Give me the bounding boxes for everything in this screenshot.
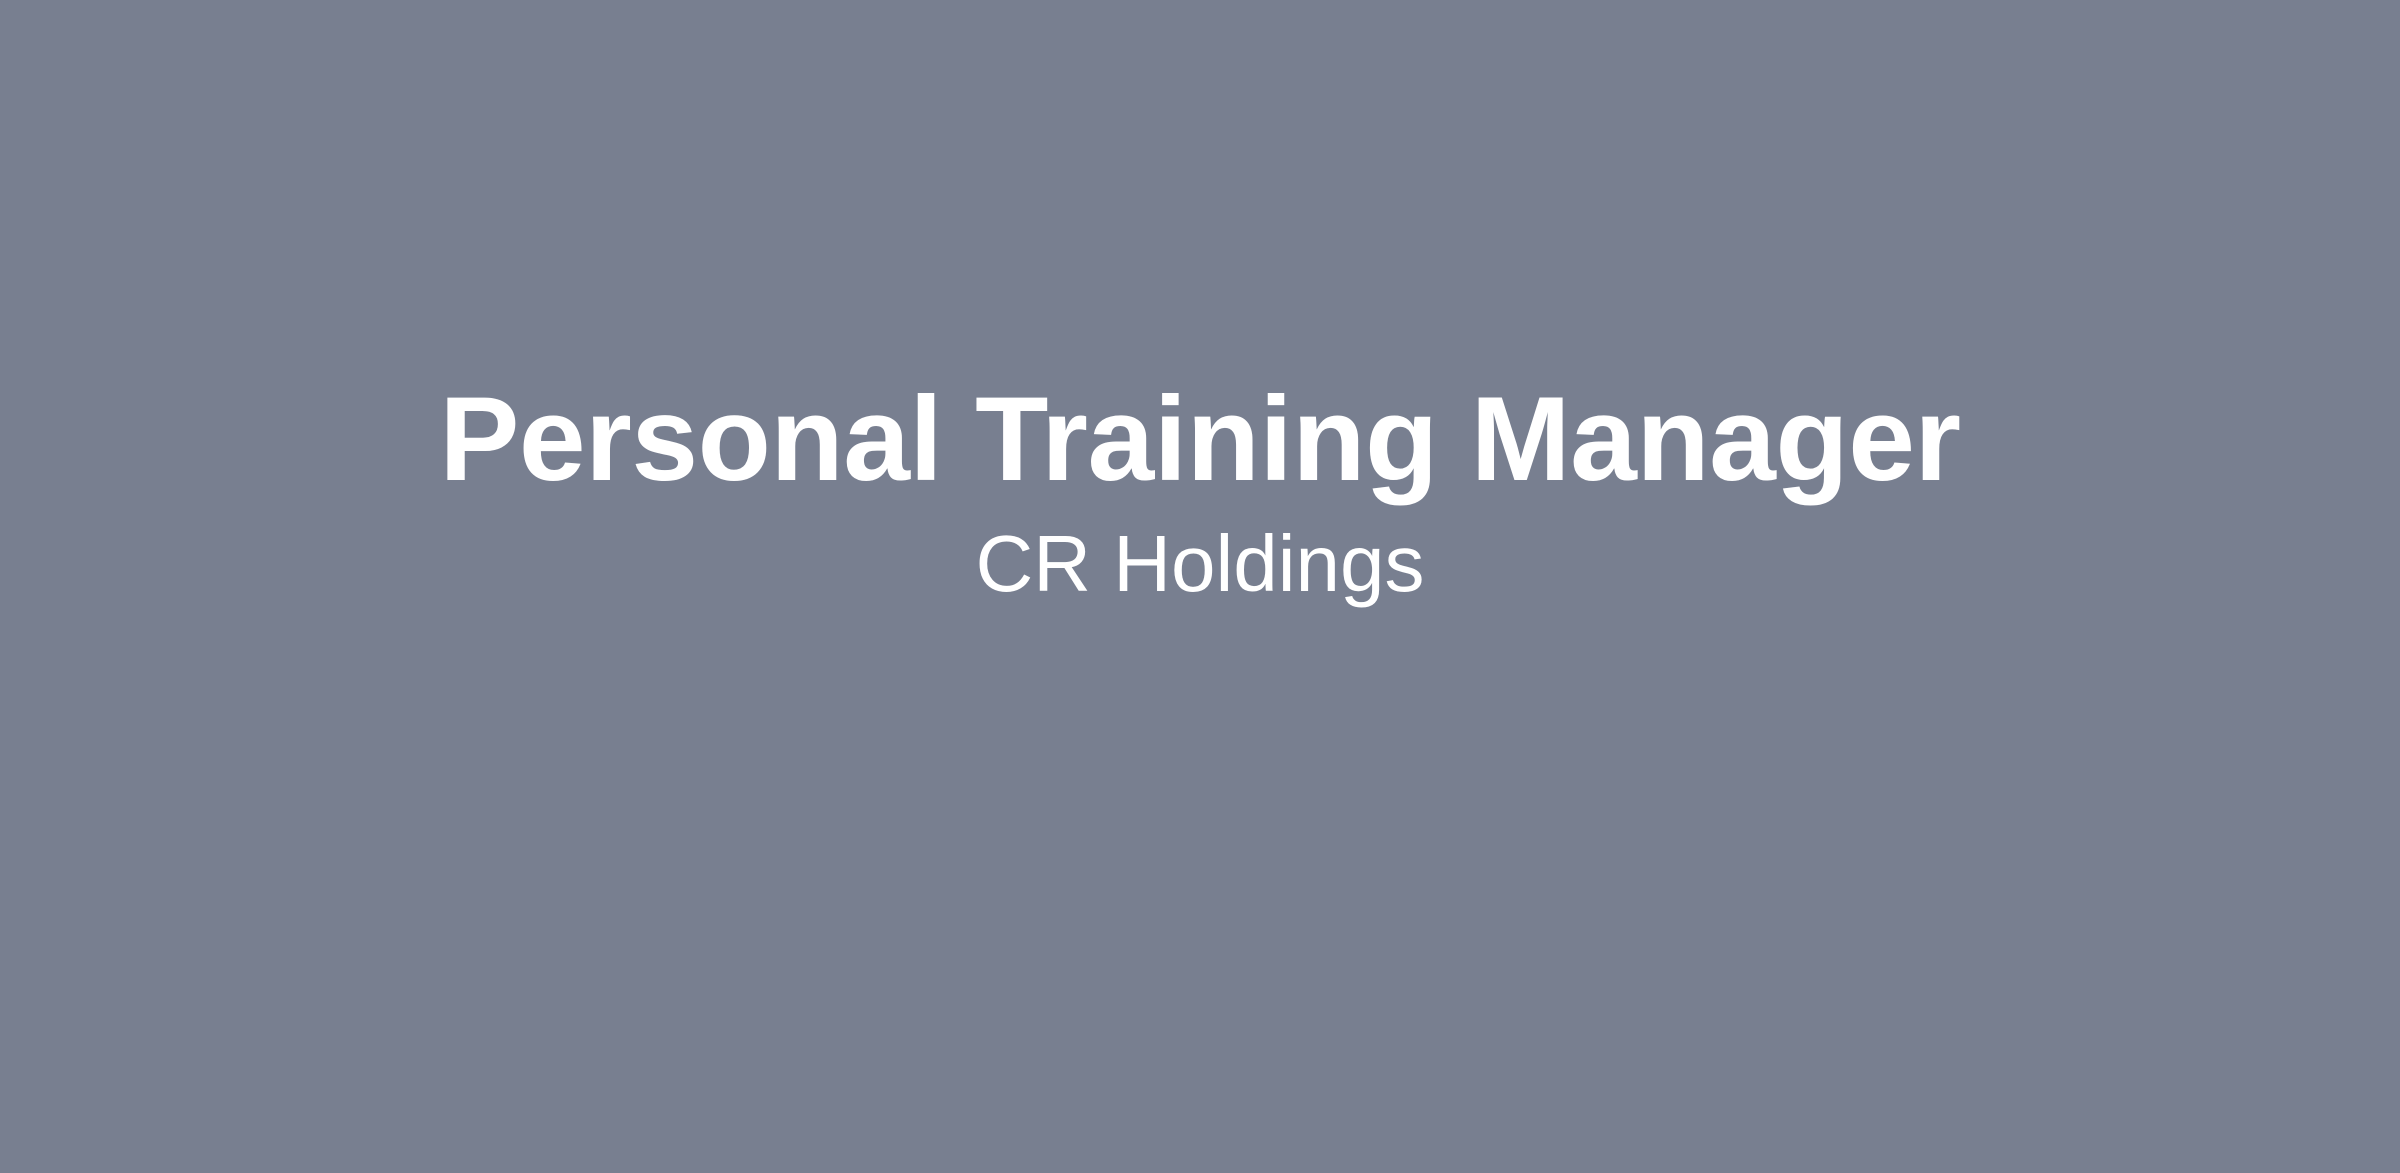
page-subtitle: CR Holdings <box>975 516 1424 612</box>
splash-screen: Personal Training Manager CR Holdings <box>0 0 2400 1173</box>
page-title: Personal Training Manager <box>439 369 1960 511</box>
title-block: Personal Training Manager CR Holdings <box>0 0 2400 1173</box>
